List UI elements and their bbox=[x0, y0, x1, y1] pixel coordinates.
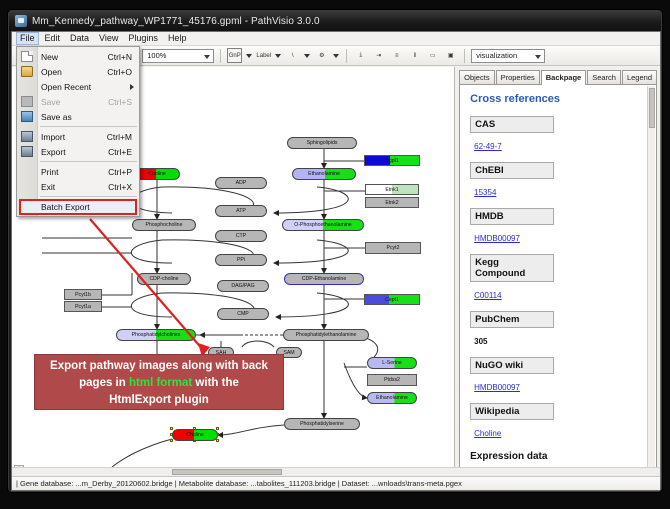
label-dropdown-arrow[interactable] bbox=[274, 48, 282, 63]
menu-item-label: New bbox=[41, 52, 58, 62]
pathway-node-sphingolipids[interactable]: Sphingolipids bbox=[287, 137, 357, 149]
order-front-button[interactable]: ▣ bbox=[443, 48, 458, 63]
xref-block: ChEBI15354 bbox=[470, 162, 646, 200]
annotation-callout: Export pathway images along with back pa… bbox=[34, 354, 284, 410]
side-panel-tabs: Objects Properties Backpage Search Legen… bbox=[459, 69, 657, 84]
distribute-horizontal-button[interactable]: ‖ bbox=[407, 48, 422, 63]
node-label: Pcyt1a bbox=[75, 304, 91, 310]
geneproduct-icon: GnP bbox=[227, 53, 243, 59]
pathway-node-ethanolamine-2[interactable]: Ethanolamine bbox=[367, 392, 417, 404]
canvas-horizontal-scrollbar[interactable] bbox=[12, 467, 660, 476]
distribute-horizontal-icon: ‖ bbox=[412, 53, 418, 59]
node-label: Sgpl1 bbox=[385, 158, 398, 164]
node-label: Pcyt2 bbox=[387, 245, 400, 251]
pathway-node-cmp[interactable]: CMP bbox=[217, 308, 269, 320]
menu-item-label: Export bbox=[41, 147, 66, 157]
status-bar: | Gene database: ...m_Derby_20120602.bri… bbox=[12, 476, 660, 490]
menu-data[interactable]: Data bbox=[66, 32, 93, 45]
menu-file[interactable]: File bbox=[16, 32, 39, 45]
pathway-node-ophosphoeth[interactable]: O-Phosphoethanolamine bbox=[282, 219, 364, 231]
menu-item-label: Exit bbox=[41, 182, 55, 192]
callout-highlight: html format bbox=[129, 377, 192, 389]
menu-separator bbox=[40, 126, 137, 127]
node-label: Etnk2 bbox=[385, 200, 398, 206]
node-label: Ptdss2 bbox=[384, 377, 400, 383]
chevron-down-icon bbox=[333, 54, 339, 58]
label-tool-button[interactable]: Label bbox=[256, 48, 271, 63]
pathway-node-phosphocholine[interactable]: Phosphocholine bbox=[132, 219, 196, 231]
node-label: Phosphatidylcholines bbox=[132, 332, 181, 338]
pathway-node-ctp[interactable]: CTP bbox=[215, 230, 267, 242]
zoom-combo[interactable]: 100% bbox=[142, 49, 214, 63]
backpage-content: Cross references CAS62-49-7ChEBI15354HMD… bbox=[459, 84, 657, 474]
xref-block: Kegg CompoundC00114 bbox=[470, 254, 646, 303]
chevron-down-icon bbox=[535, 55, 541, 59]
node-label: Phosphatidylserine bbox=[300, 421, 344, 427]
xref-link[interactable]: HMDB00097 bbox=[470, 383, 520, 392]
menu-item-accelerator: Ctrl+P bbox=[108, 167, 132, 177]
tab-backpage[interactable]: Backpage bbox=[541, 70, 586, 85]
visualization-value: visualization bbox=[476, 51, 517, 60]
visualization-combo[interactable]: visualization bbox=[471, 49, 545, 63]
menu-edit[interactable]: Edit bbox=[41, 32, 65, 45]
chevron-down-icon bbox=[304, 54, 310, 58]
new-document-icon bbox=[21, 51, 33, 62]
chevron-down-icon bbox=[204, 55, 210, 59]
menu-item-label: Batch Export bbox=[41, 202, 90, 212]
callout-line-2: pages in html format with the bbox=[35, 375, 283, 392]
pathway-node-ptdss2[interactable]: Ptdss2 bbox=[367, 374, 417, 386]
xref-link[interactable]: 15354 bbox=[470, 188, 496, 197]
line-icon: \ bbox=[290, 53, 296, 59]
menu-item-open[interactable]: OpenCtrl+O bbox=[17, 64, 139, 79]
cross-references-heading: Cross references bbox=[470, 93, 646, 105]
node-label: DAG/PAG bbox=[231, 283, 254, 289]
pathway-node-cept1[interactable]: Cept1 bbox=[364, 294, 420, 305]
shape-icon: ⚙ bbox=[317, 52, 326, 59]
menu-item-batch-export[interactable]: Batch Export bbox=[17, 199, 139, 214]
size-equal-button[interactable]: ▭ bbox=[425, 48, 440, 63]
node-label: CDP-choline bbox=[149, 276, 178, 282]
node-label: L-Serine bbox=[382, 360, 402, 366]
geneproduct-tool-button[interactable]: GnP bbox=[227, 48, 242, 63]
app-icon bbox=[15, 15, 27, 27]
line-tool-button[interactable]: \ bbox=[285, 48, 300, 63]
align-left-button[interactable]: ⇥ bbox=[371, 48, 386, 63]
callout-line-2-pre: pages in bbox=[79, 377, 129, 389]
menu-item-import[interactable]: ImportCtrl+M bbox=[17, 129, 139, 144]
node-label: CDP-Ethanolamine bbox=[302, 276, 346, 282]
node-label: Ethanolamine bbox=[376, 395, 408, 401]
pathway-node-l-serine[interactable]: L-Serine bbox=[367, 357, 417, 369]
node-label: Choline bbox=[186, 432, 204, 438]
callout-line-2-post: with the bbox=[192, 377, 239, 389]
xref-database-name: Kegg Compound bbox=[470, 254, 554, 282]
menu-item-label: Import bbox=[41, 132, 65, 142]
callout-line-1: Export pathway images along with back bbox=[35, 358, 283, 375]
pathway-node-ptdethanol[interactable]: Phosphatidylethanolamine bbox=[283, 329, 369, 341]
chevron-down-icon bbox=[246, 54, 252, 58]
menu-bar: File Edit Data View Plugins Help bbox=[12, 32, 660, 46]
xref-block: HMDBHMDB00097 bbox=[470, 208, 646, 246]
toolbar-separator bbox=[464, 49, 465, 63]
xref-block: WikipediaCholine bbox=[470, 403, 646, 441]
pathway-node-choline-top[interactable]: Choline bbox=[134, 168, 180, 180]
menu-item-new[interactable]: NewCtrl+N bbox=[17, 49, 139, 64]
menu-item-label: Print bbox=[41, 167, 58, 177]
node-label: ADP bbox=[236, 180, 247, 186]
node-label: Ethanolamine bbox=[308, 171, 340, 177]
selection-handle[interactable] bbox=[216, 439, 219, 442]
pathway-node-ptdserine[interactable]: Phosphatidylserine bbox=[284, 418, 360, 430]
menu-view[interactable]: View bbox=[95, 32, 122, 45]
xref-block: NuGO wikiHMDB00097 bbox=[470, 357, 646, 395]
xref-link[interactable]: HMDB00097 bbox=[470, 234, 520, 243]
line-dropdown-arrow[interactable] bbox=[303, 48, 311, 63]
toolbar-separator bbox=[220, 49, 221, 63]
menu-item-label: Open bbox=[41, 67, 62, 77]
application-window: Mm_Kennedy_pathway_WP1771_45176.gpml - P… bbox=[8, 10, 662, 492]
label-icon: Label bbox=[254, 53, 273, 59]
screenshot-root: Mm_Kennedy_pathway_WP1771_45176.gpml - P… bbox=[0, 0, 670, 509]
menu-item-accelerator: Ctrl+X bbox=[108, 182, 132, 192]
xref-database-name: HMDB bbox=[470, 208, 554, 225]
pathway-node-pcyt1a[interactable]: Pcyt1a bbox=[64, 301, 102, 312]
node-label: Phosphatidylethanolamine bbox=[296, 332, 357, 338]
node-label: Choline bbox=[148, 171, 166, 177]
shape-tool-button[interactable]: ⚙ bbox=[314, 48, 329, 63]
pathway-node-choline-sel[interactable]: Choline bbox=[172, 429, 218, 441]
size-equal-icon: ▭ bbox=[428, 52, 438, 59]
callout-line-3: HtmlExport plugin bbox=[35, 392, 283, 409]
pathway-node-etnk2[interactable]: Etnk2 bbox=[365, 197, 419, 208]
align-top-button[interactable]: ⤓ bbox=[353, 48, 368, 63]
menu-item-accelerator: Ctrl+O bbox=[107, 67, 132, 77]
distribute-vertical-button[interactable]: ≡ bbox=[389, 48, 404, 63]
zoom-value: 100% bbox=[147, 51, 166, 60]
align-left-icon: ⇥ bbox=[374, 52, 383, 59]
side-panel: Objects Properties Backpage Search Legen… bbox=[455, 67, 660, 476]
xref-database-name: ChEBI bbox=[470, 162, 554, 179]
chevron-down-icon bbox=[275, 54, 281, 58]
node-label: CTP bbox=[236, 233, 246, 239]
node-label: CMP bbox=[237, 311, 249, 317]
pathway-node-pcyt2[interactable]: Pcyt2 bbox=[365, 242, 421, 254]
open-folder-icon bbox=[21, 66, 33, 77]
xref-database-name: NuGO wiki bbox=[470, 357, 554, 374]
expression-data-heading: Expression data bbox=[470, 451, 646, 462]
cross-reference-list: CAS62-49-7ChEBI15354HMDBHMDB00097Kegg Co… bbox=[470, 116, 646, 441]
menu-item-accelerator: Ctrl+S bbox=[108, 97, 132, 107]
tab-objects[interactable]: Objects bbox=[459, 70, 494, 84]
menu-item-label: Open Recent bbox=[41, 82, 91, 92]
node-label: ATP bbox=[236, 208, 246, 214]
node-label: PPi bbox=[237, 257, 245, 263]
xref-database-name: Wikipedia bbox=[470, 403, 554, 420]
menu-item-save-as[interactable]: Save as bbox=[17, 109, 139, 124]
menu-item-exit[interactable]: ExitCtrl+X bbox=[17, 179, 139, 194]
menu-item-accelerator: Ctrl+E bbox=[108, 147, 132, 157]
menu-separator bbox=[40, 196, 137, 197]
application-body: File Edit Data View Plugins Help Zoom: 1… bbox=[11, 31, 661, 491]
tab-legend[interactable]: Legend bbox=[622, 70, 657, 84]
pathway-node-pcyt1b[interactable]: Pcyt1b bbox=[64, 289, 102, 300]
window-title: Mm_Kennedy_pathway_WP1771_45176.gpml - P… bbox=[32, 16, 320, 27]
xref-link[interactable]: 62-49-7 bbox=[470, 142, 502, 151]
import-icon bbox=[21, 131, 33, 142]
distribute-vertical-icon: ≡ bbox=[393, 53, 401, 59]
menu-plugins[interactable]: Plugins bbox=[124, 32, 162, 45]
save-disk-icon bbox=[21, 96, 33, 107]
pathway-node-etnk1[interactable]: Etnk1 bbox=[365, 184, 419, 195]
file-menu-dropdown[interactable]: NewCtrl+NOpenCtrl+OOpen RecentSaveCtrl+S… bbox=[16, 46, 140, 217]
selection-handle[interactable] bbox=[170, 427, 173, 430]
menu-item-save: SaveCtrl+S bbox=[17, 94, 139, 109]
toolbar-separator bbox=[346, 49, 347, 63]
order-front-icon: ▣ bbox=[446, 52, 456, 59]
node-label: SAM bbox=[283, 350, 294, 356]
node-label: Phosphocholine bbox=[146, 222, 183, 228]
menu-item-label: Save bbox=[41, 97, 60, 107]
xref-database-name: PubChem bbox=[470, 311, 554, 328]
xref-block: PubChem305 bbox=[470, 311, 646, 349]
pathway-node-adp[interactable]: ADP bbox=[215, 177, 267, 189]
xref-block: CAS62-49-7 bbox=[470, 116, 646, 154]
side-panel-scrollbar[interactable] bbox=[647, 86, 655, 472]
xref-link[interactable]: Choline bbox=[470, 429, 501, 438]
align-top-icon: ⤓ bbox=[357, 52, 364, 59]
menu-item-accelerator: Ctrl+N bbox=[108, 52, 132, 62]
node-label: Pcyt1b bbox=[75, 292, 91, 298]
menu-help[interactable]: Help bbox=[164, 32, 191, 45]
node-label: Cept1 bbox=[385, 297, 399, 303]
xref-link[interactable]: C00114 bbox=[470, 291, 501, 300]
file-menu-items: NewCtrl+NOpenCtrl+OOpen RecentSaveCtrl+S… bbox=[17, 49, 139, 214]
xref-database-name: CAS bbox=[470, 116, 554, 133]
tab-search[interactable]: Search bbox=[587, 70, 621, 84]
pathway-node-cdp-choline[interactable]: CDP-choline bbox=[137, 273, 191, 285]
canvas-hscroll-thumb[interactable] bbox=[172, 469, 282, 475]
pathway-node-ppi[interactable]: PPi bbox=[215, 254, 267, 266]
shape-dropdown-arrow[interactable] bbox=[332, 48, 340, 63]
chevron-right-icon bbox=[130, 84, 134, 90]
save-as-icon bbox=[21, 111, 33, 122]
status-text: | Gene database: ...m_Derby_20120602.bri… bbox=[16, 479, 462, 488]
menu-item-label: Save as bbox=[41, 112, 72, 122]
node-label: Etnk1 bbox=[385, 187, 398, 193]
pathway-node-ptdcholines[interactable]: Phosphatidylcholines bbox=[116, 329, 196, 341]
node-label: O-Phosphoethanolamine bbox=[294, 222, 351, 228]
pathway-node-dag-pag[interactable]: DAG/PAG bbox=[217, 280, 269, 292]
menu-item-print[interactable]: PrintCtrl+P bbox=[17, 164, 139, 179]
xref-value: 305 bbox=[470, 337, 487, 346]
pathway-node-ethanolamine-1[interactable]: Ethanolamine bbox=[292, 168, 356, 180]
selection-handle[interactable] bbox=[170, 439, 173, 442]
side-panel-scroll-thumb[interactable] bbox=[649, 88, 655, 128]
menu-item-accelerator: Ctrl+M bbox=[107, 132, 132, 142]
node-label: Sphingolipids bbox=[307, 140, 338, 146]
export-icon bbox=[21, 146, 33, 157]
pathway-node-sgpl1[interactable]: Sgpl1 bbox=[364, 155, 420, 166]
selection-handle[interactable] bbox=[216, 427, 219, 430]
menu-separator bbox=[40, 161, 137, 162]
title-bar: Mm_Kennedy_pathway_WP1771_45176.gpml - P… bbox=[9, 11, 662, 31]
pathway-node-cdp-ethanol[interactable]: CDP-Ethanolamine bbox=[284, 273, 364, 285]
geneproduct-dropdown-arrow[interactable] bbox=[245, 48, 253, 63]
menu-item-export[interactable]: ExportCtrl+E bbox=[17, 144, 139, 159]
tab-properties[interactable]: Properties bbox=[496, 70, 540, 84]
menu-item-open-recent[interactable]: Open Recent bbox=[17, 79, 139, 94]
pathway-node-atp[interactable]: ATP bbox=[215, 205, 267, 217]
